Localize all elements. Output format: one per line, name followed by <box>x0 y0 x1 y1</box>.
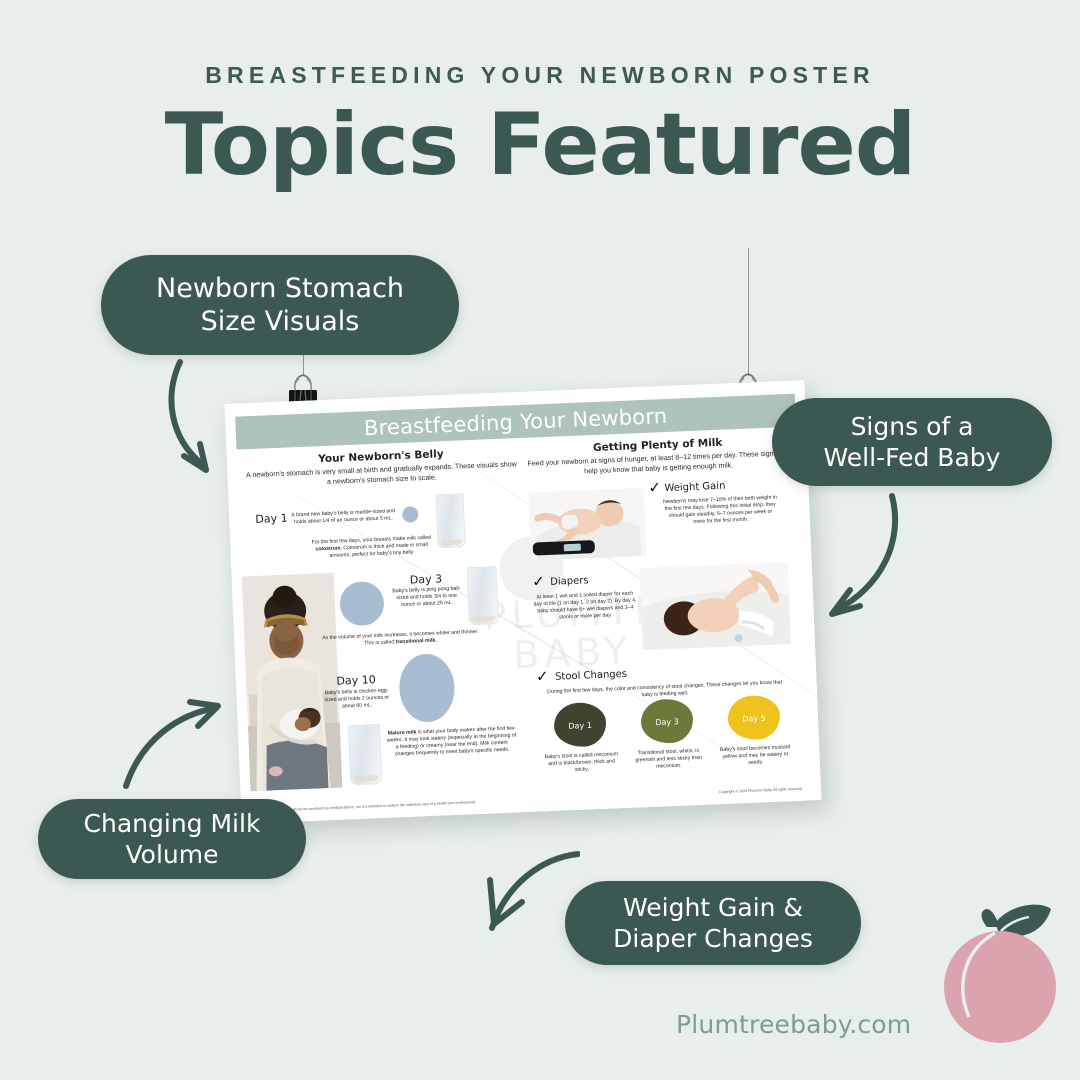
day10-milk-glass <box>348 724 382 785</box>
colostrum-text-b: Colostrum is thick and made in small amo… <box>329 542 428 559</box>
day1-milk-glass <box>436 493 466 548</box>
stool-swatch: Day 5 <box>727 695 781 741</box>
day3-belly-circle <box>339 581 385 627</box>
page-title: Topics Featured <box>0 95 1080 195</box>
diapers-check-icon: ✓ <box>532 574 545 590</box>
callout-line-2: Diaper Changes <box>613 923 813 954</box>
poster-left-column: Your Newborn's Belly A newborn's stomach… <box>245 445 518 490</box>
colostrum-text: For the first few days, your breasts mak… <box>306 535 437 561</box>
day1-belly-circle <box>402 506 419 523</box>
diapers-text: At least 1 wet and 1 soiled diaper for e… <box>533 590 638 622</box>
baby-on-scale-photo <box>529 488 647 561</box>
poster-right-column: Getting Plenty of Milk Feed your newborn… <box>527 434 790 479</box>
poster-copyright: Copyright © 2020 Plumtree Baby. All righ… <box>719 787 803 794</box>
callout-line-2: Well-Fed Baby <box>824 442 1001 473</box>
arrow-to-signs <box>800 488 910 628</box>
callout-newborn-stomach-size-visuals[interactable]: Newborn Stomach Size Visuals <box>101 255 459 355</box>
day10-text: Baby's belly is chicken egg-sized and ho… <box>320 687 393 711</box>
stool-caption: Baby's stool is called meconium and is b… <box>543 751 620 775</box>
hanging-string-right <box>748 248 749 376</box>
eyebrow-text: BREASTFEEDING YOUR NEWBORN POSTER <box>0 62 1080 89</box>
stool-stage-item: Day 1 Baby's stool is called meconium an… <box>541 701 620 775</box>
weight-gain-text: Newborns may lose 7–10% of their birth w… <box>663 495 778 527</box>
day1-label: Day 1 <box>255 512 288 526</box>
arrow-to-stomach-visuals <box>158 352 238 487</box>
poster-title: Breastfeeding Your Newborn <box>363 403 667 439</box>
callout-text: Signs of a Well-Fed Baby <box>824 411 1001 473</box>
stool-caption: Baby's stool becomes mustard yellow and … <box>717 744 794 768</box>
mature-milk-text: Mature milk is what your body makes afte… <box>386 725 517 758</box>
day3-text: Baby's belly is ping pong ball-sized and… <box>390 585 463 609</box>
day10-belly-circle <box>398 653 456 723</box>
weight-gain-title: Weight Gain <box>664 481 725 494</box>
weight-gain-check-icon: ✓ <box>648 480 661 496</box>
stool-stage-item: Day 5 Baby's stool becomes mustard yello… <box>715 694 794 768</box>
arrow-to-changing-milk <box>118 690 228 800</box>
stool-stage-list: Day 1 Baby's stool is called meconium an… <box>541 694 794 775</box>
stool-stage-item: Day 3 Transitional stool, whitis, is gre… <box>628 698 707 772</box>
arrow-to-weight-gain <box>450 818 580 936</box>
diaper-change-photo <box>640 562 791 650</box>
callout-text: Weight Gain & Diaper Changes <box>613 892 813 954</box>
callout-weight-gain-and-diaper-changes[interactable]: Weight Gain & Diaper Changes <box>565 881 861 965</box>
callout-line-1: Changing Milk <box>84 808 261 839</box>
callout-line-2: Volume <box>84 839 261 870</box>
transitional-milk-text: As the volume of your milk increases, it… <box>320 629 480 649</box>
transitional-bold: transitional milk. <box>396 637 437 645</box>
callout-signs-of-a-well-fed-baby[interactable]: Signs of a Well-Fed Baby <box>772 398 1052 486</box>
poster-promo-graphic: BREASTFEEDING YOUR NEWBORN POSTER Topics… <box>0 0 1080 1080</box>
callout-line-1: Weight Gain & <box>613 892 813 923</box>
colostrum-bold: colostrum. <box>315 545 342 552</box>
website-url[interactable]: Plumtreebaby.com <box>676 1010 911 1039</box>
stool-swatch: Day 1 <box>553 702 607 748</box>
stool-caption: Transitional stool, whitis, is greenish … <box>630 748 707 772</box>
callout-text: Changing Milk Volume <box>84 808 261 870</box>
stool-swatch: Day 3 <box>640 698 694 744</box>
stool-changes-check-icon: ✓ <box>536 669 549 685</box>
callout-changing-milk-volume[interactable]: Changing Milk Volume <box>38 799 306 879</box>
poster-image[interactable]: Breastfeeding Your Newborn PLUMTREE BABY… <box>225 380 822 823</box>
stool-changes-title: Stool Changes <box>555 669 627 683</box>
day1-text: A brand new baby's belly is marble-sized… <box>291 508 395 526</box>
diapers-title: Diapers <box>550 575 589 588</box>
peach-logo-icon <box>925 895 1075 1045</box>
callout-line-1: Signs of a <box>824 411 1001 442</box>
callout-line-1: Newborn Stomach <box>156 272 404 305</box>
callout-line-2: Size Visuals <box>156 305 404 338</box>
day3-milk-glass <box>467 566 499 625</box>
day10-label: Day 10 <box>318 672 394 688</box>
callout-text: Newborn Stomach Size Visuals <box>156 272 404 339</box>
